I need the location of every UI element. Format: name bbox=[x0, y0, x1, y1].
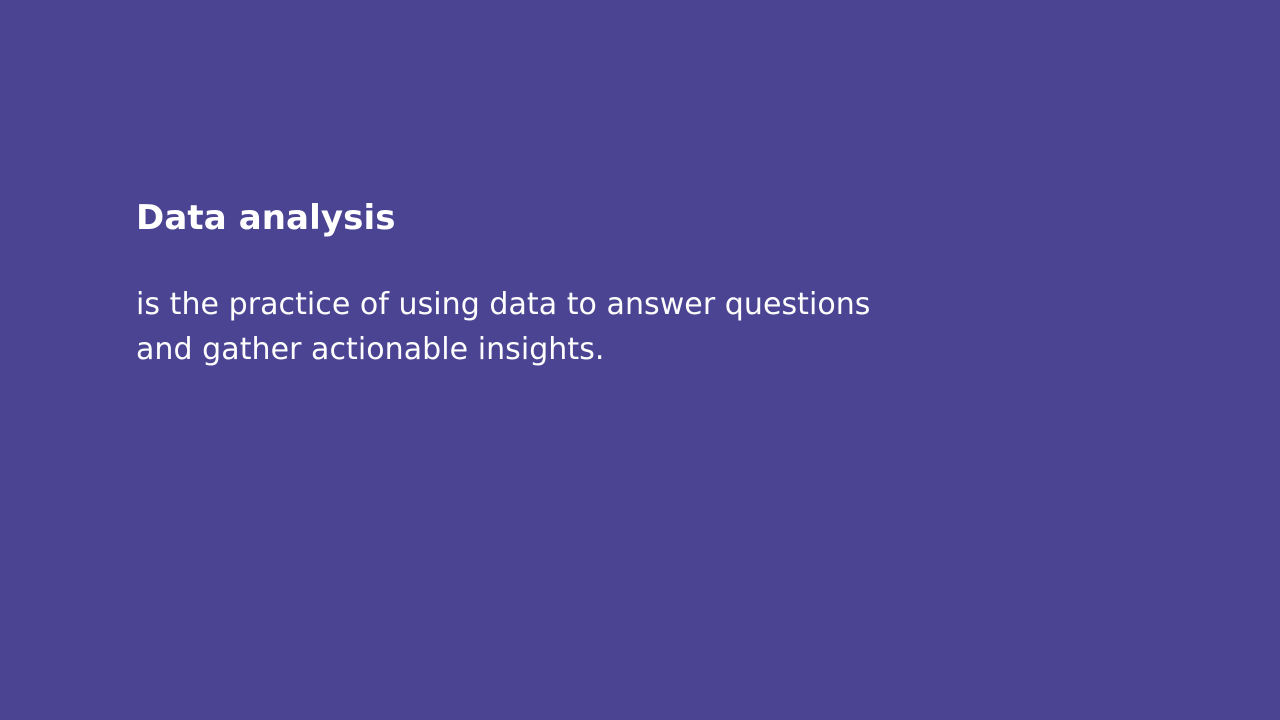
page-title: Data analysis bbox=[136, 196, 1036, 240]
slide-canvas: Data analysis is the practice of using d… bbox=[0, 0, 1280, 720]
body-line-1: is the practice of using data to answer … bbox=[136, 282, 1036, 327]
slide-text-block: Data analysis is the practice of using d… bbox=[136, 196, 1036, 372]
body-line-2: and gather actionable insights. bbox=[136, 327, 1036, 372]
slide-body-text: is the practice of using data to answer … bbox=[136, 240, 1036, 372]
